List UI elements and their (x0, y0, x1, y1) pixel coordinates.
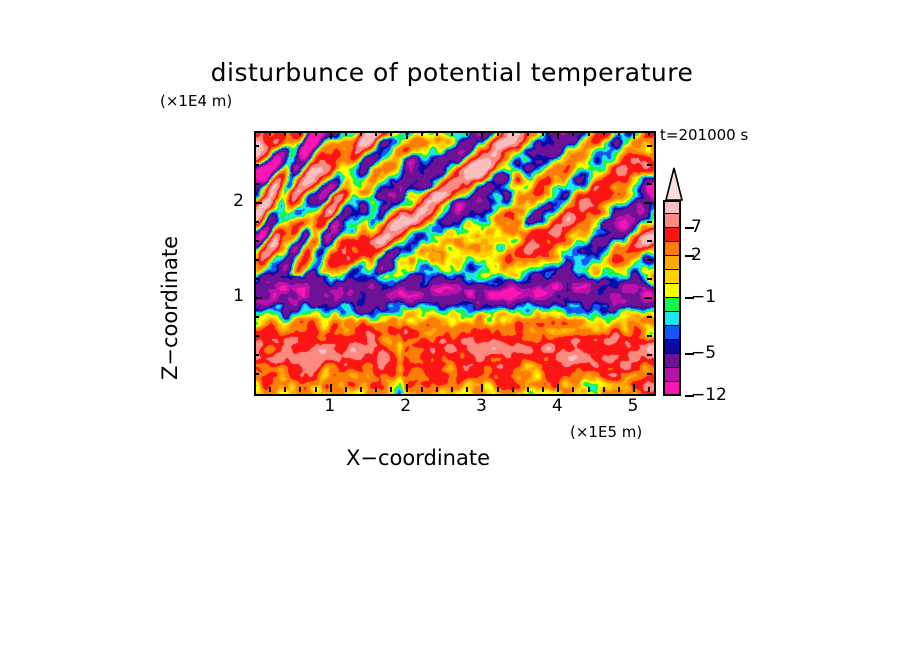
colorbar-band (663, 326, 681, 340)
axis-tick (527, 387, 529, 392)
axis-tick (330, 384, 332, 392)
axis-tick (390, 131, 392, 136)
axis-tick (436, 387, 438, 392)
axis-tick (254, 202, 262, 204)
y-tick-label: 1 (204, 286, 244, 306)
axis-tick (618, 387, 620, 392)
axis-tick (557, 384, 559, 392)
axis-tick (269, 131, 271, 136)
axis-tick (647, 335, 652, 337)
colorbar-label: 7 (691, 217, 702, 237)
axis-tick (647, 259, 652, 261)
y-axis-title: Z−coordinate (158, 0, 182, 150)
axis-tick (254, 221, 259, 223)
axis-tick (647, 373, 652, 375)
axis-tick (421, 387, 423, 392)
axis-tick (542, 387, 544, 392)
x-axis-units-label: (×1E5 m) (570, 423, 642, 441)
axis-tick (406, 131, 408, 139)
x-tick-label: 1 (310, 396, 350, 416)
axis-tick (254, 354, 259, 356)
axis-decorations: 1234512 (0, 0, 904, 654)
axis-tick (269, 387, 271, 392)
axis-tick (557, 131, 559, 139)
colorbar-band (663, 354, 681, 368)
axis-tick (512, 131, 514, 136)
axis-tick (618, 131, 620, 136)
axis-tick (375, 131, 377, 136)
axis-tick (375, 387, 377, 392)
colorbar-band (663, 270, 681, 284)
axis-tick (633, 131, 635, 139)
axis-tick (647, 316, 652, 318)
axis-tick (603, 387, 605, 392)
colorbar-band (663, 214, 681, 228)
colorbar-label: 2 (691, 245, 702, 265)
axis-tick (603, 131, 605, 136)
x-axis-title-text: X−coordinate (346, 446, 490, 470)
colorbar-band (663, 340, 681, 354)
axis-tick (315, 387, 317, 392)
colorbar-label: −1 (691, 287, 716, 307)
colorbar-arrow-tip (663, 167, 685, 201)
axis-tick (644, 202, 652, 204)
axis-tick (421, 131, 423, 136)
axis-tick (360, 387, 362, 392)
axis-tick (647, 145, 652, 147)
axis-tick (254, 145, 259, 147)
axis-tick (360, 131, 362, 136)
colorbar-label: −5 (691, 343, 716, 363)
axis-tick (466, 131, 468, 136)
x-axis-title: X−coordinate (0, 446, 904, 470)
axis-tick (542, 131, 544, 136)
colorbar-band (663, 368, 681, 382)
axis-tick (254, 316, 259, 318)
x-tick-label: 5 (613, 396, 653, 416)
colorbar-band (663, 312, 681, 326)
axis-tick (497, 387, 499, 392)
x-tick-label: 2 (386, 396, 426, 416)
y-tick-label: 2 (204, 191, 244, 211)
axis-tick (406, 384, 408, 392)
axis-tick (345, 131, 347, 136)
axis-tick (481, 384, 483, 392)
axis-tick (254, 278, 259, 280)
axis-tick (647, 240, 652, 242)
y-axis-title-text: Z−coordinate (158, 236, 182, 380)
axis-tick (588, 387, 590, 392)
axis-tick (647, 354, 652, 356)
axis-tick (647, 278, 652, 280)
colorbar-band (663, 298, 681, 312)
x-tick-label: 3 (461, 396, 501, 416)
axis-tick (481, 131, 483, 139)
axis-tick (451, 131, 453, 136)
axis-tick (254, 297, 262, 299)
colorbar-band (663, 284, 681, 298)
axis-tick (345, 387, 347, 392)
axis-tick (644, 297, 652, 299)
axis-tick (254, 259, 259, 261)
axis-tick (254, 373, 259, 375)
axis-tick (254, 164, 259, 166)
axis-tick (648, 131, 650, 136)
axis-tick (647, 183, 652, 185)
colorbar-band (663, 256, 681, 270)
axis-tick (466, 387, 468, 392)
axis-tick (451, 387, 453, 392)
axis-tick (497, 131, 499, 136)
axis-tick (633, 384, 635, 392)
axis-tick (299, 387, 301, 392)
colorbar-band (663, 242, 681, 256)
colorbar-label: −12 (691, 385, 727, 405)
axis-tick (315, 131, 317, 136)
colorbar-band (663, 228, 681, 242)
axis-tick (254, 335, 259, 337)
axis-tick (572, 131, 574, 136)
axis-tick (390, 387, 392, 392)
axis-tick (512, 387, 514, 392)
figure-canvas: disturbunce of potential temperature (×1… (0, 0, 904, 654)
axis-tick (284, 131, 286, 136)
axis-tick (330, 131, 332, 139)
axis-tick (572, 387, 574, 392)
axis-tick (299, 131, 301, 136)
colorbar-band (663, 382, 681, 396)
x-tick-label: 4 (537, 396, 577, 416)
axis-tick (647, 221, 652, 223)
axis-tick (436, 131, 438, 136)
axis-tick (254, 183, 259, 185)
axis-tick (648, 387, 650, 392)
axis-tick (647, 164, 652, 166)
axis-tick (254, 240, 259, 242)
colorbar (665, 200, 683, 396)
axis-tick (588, 131, 590, 136)
axis-tick (527, 131, 529, 136)
colorbar-band (663, 200, 681, 214)
axis-tick (284, 387, 286, 392)
